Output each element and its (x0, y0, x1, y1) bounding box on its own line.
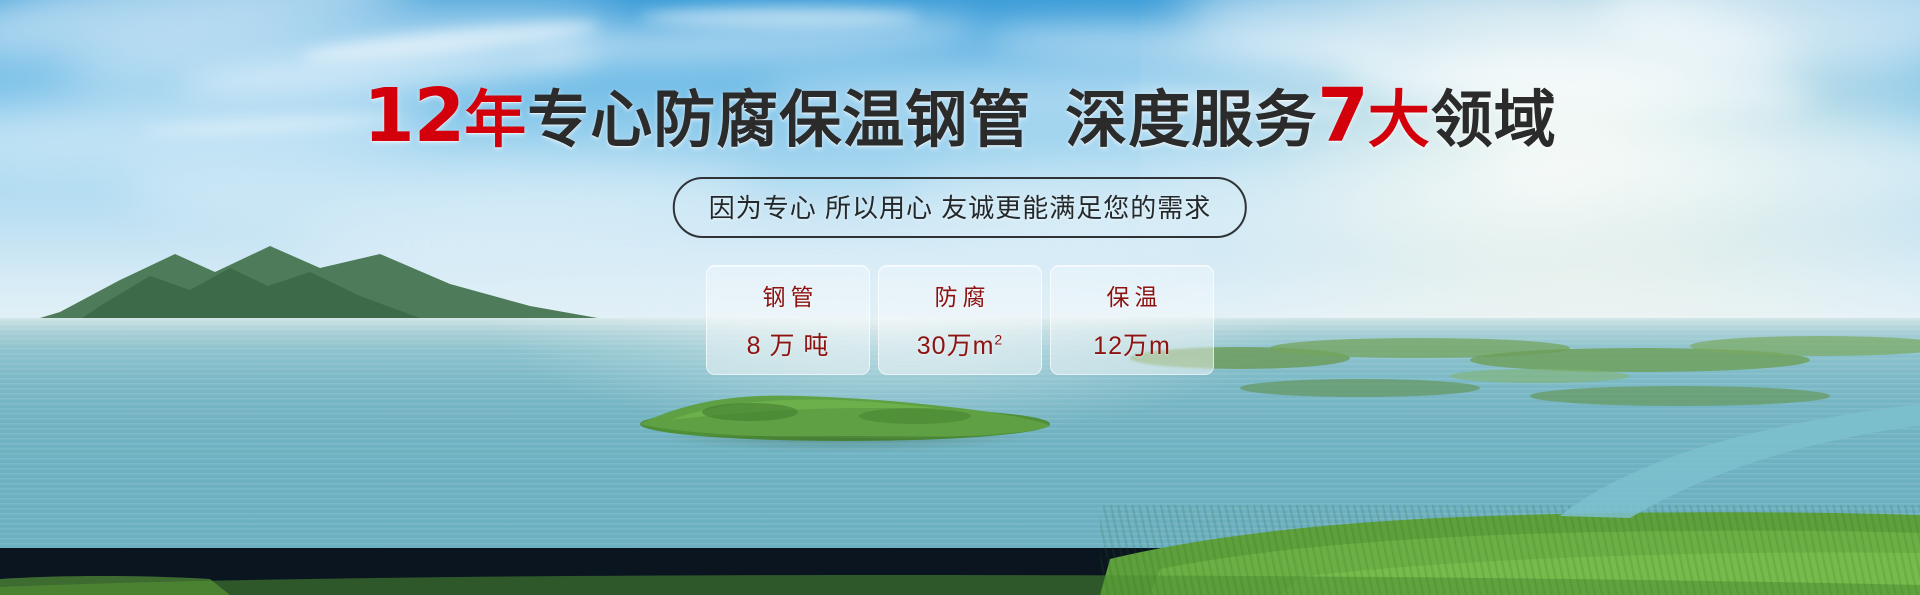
stat-value-main: 30万m (917, 332, 995, 360)
stat-card-anticorrosion[interactable]: 防腐 30万m2 (878, 265, 1042, 375)
subtitle-pill: 因为专心 所以用心 友诚更能满足您的需求 (673, 177, 1247, 238)
stat-value-superscript: 2 (994, 332, 1003, 348)
grass-island (630, 372, 1060, 442)
stat-label-insulation: 保温 (1102, 278, 1163, 312)
headline-fields-unit: 大 (1368, 86, 1431, 155)
stat-value-insulation: 12万m (1093, 326, 1171, 362)
island-reflection (660, 436, 1030, 452)
headline-fields-number: 7 (1317, 73, 1368, 159)
headline-part-3: 领域 (1431, 86, 1557, 155)
headline-years-unit: 年 (464, 86, 527, 155)
stat-card-insulation[interactable]: 保温 12万m (1050, 265, 1214, 375)
water-channel (1380, 400, 1920, 520)
headline-part-2: 深度服务 (1065, 86, 1317, 155)
promo-banner: 12年专心防腐保温钢管深度服务7大领域 因为专心 所以用心 友诚更能满足您的需求… (0, 0, 1920, 595)
stat-card-group: 钢管 8 万 吨 防腐 30万m2 保温 12万m (706, 265, 1214, 375)
stat-value-anticorrosion: 30万m2 (917, 326, 1003, 362)
page-title: 12年专心防腐保温钢管深度服务7大领域 (0, 83, 1920, 154)
stat-value-main: 12万m (1093, 332, 1171, 360)
headline-part-1: 专心防腐保温钢管 (527, 86, 1031, 155)
stat-value-main: 8 万 吨 (747, 332, 830, 360)
headline-years-number: 12 (363, 73, 464, 159)
stat-value-steel-pipe: 8 万 吨 (747, 326, 830, 362)
stat-label-anticorrosion: 防腐 (930, 278, 991, 312)
stat-label-steel-pipe: 钢管 (758, 278, 819, 312)
stat-card-steel-pipe[interactable]: 钢管 8 万 吨 (706, 265, 870, 375)
